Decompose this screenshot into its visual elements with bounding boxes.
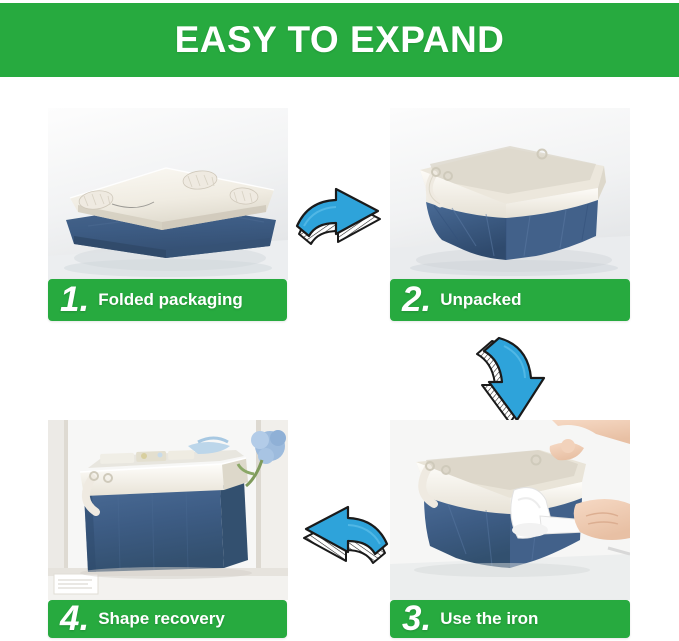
caption-step-1: 1. Folded packaging bbox=[48, 279, 287, 321]
photo-unpacked bbox=[390, 108, 630, 280]
step-number-4: 4. bbox=[60, 601, 89, 636]
unpacked-basket-illustration bbox=[390, 108, 630, 280]
step-number-2: 2. bbox=[402, 282, 431, 317]
arrow-down-icon bbox=[474, 332, 556, 428]
arrow-1-to-2-graphic bbox=[292, 182, 392, 258]
photo-use-the-iron bbox=[390, 420, 630, 600]
page-title: EASY TO EXPAND bbox=[175, 19, 505, 61]
step-label-2: Unpacked bbox=[440, 290, 521, 310]
caption-step-2: 2. Unpacked bbox=[390, 279, 630, 321]
ironing-basket-illustration bbox=[390, 420, 630, 600]
step-photo-unpacked bbox=[390, 108, 630, 280]
step-number-3: 3. bbox=[402, 601, 431, 636]
folded-basket-illustration bbox=[48, 108, 288, 280]
arrow-right-icon bbox=[292, 182, 392, 258]
photo-folded-packaging bbox=[48, 108, 288, 280]
arrow-left-icon bbox=[292, 502, 392, 578]
infographic-root: EASY TO EXPAND bbox=[0, 0, 679, 641]
header-banner: EASY TO EXPAND bbox=[0, 3, 679, 77]
arrow-2-to-3-graphic bbox=[474, 332, 556, 428]
step-label-1: Folded packaging bbox=[98, 290, 243, 310]
step-photo-folded-packaging bbox=[48, 108, 288, 280]
shelf-basket-illustration bbox=[48, 420, 288, 600]
step-number-1: 1. bbox=[60, 282, 89, 317]
photo-shape-recovery bbox=[48, 420, 288, 600]
caption-step-3: 3. Use the iron bbox=[390, 600, 630, 638]
step-photo-use-the-iron bbox=[390, 420, 630, 600]
caption-step-4: 4. Shape recovery bbox=[48, 600, 287, 638]
step-label-4: Shape recovery bbox=[98, 609, 225, 629]
step-label-3: Use the iron bbox=[440, 609, 538, 629]
arrow-3-to-4-graphic bbox=[292, 502, 392, 578]
step-photo-shape-recovery bbox=[48, 420, 288, 600]
